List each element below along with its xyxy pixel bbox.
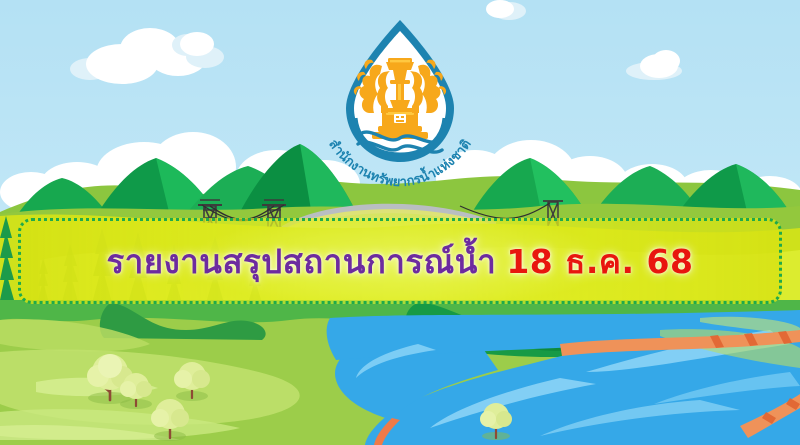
logo-curved-text-svg: สำนักงานทรัพยากรน้ำแห่งชาติ bbox=[312, 14, 488, 170]
organization-logo: สำนักงานทรัพยากรน้ำแห่งชาติ bbox=[312, 14, 488, 170]
title-banner: รายงานสรุปสถานการณ์น้ำ18 ธ.ค. 68 bbox=[18, 218, 782, 304]
water-situation-report-banner-image: สำนักงานทรัพยากรน้ำแห่งชาติ รายงานสรุปสถ… bbox=[0, 0, 800, 445]
banner-title-line: รายงานสรุปสถานการณ์น้ำ18 ธ.ค. 68 bbox=[107, 245, 694, 278]
report-title-thai: รายงานสรุปสถานการณ์น้ำ bbox=[107, 242, 497, 281]
report-date-thai: 18 ธ.ค. 68 bbox=[506, 242, 693, 281]
